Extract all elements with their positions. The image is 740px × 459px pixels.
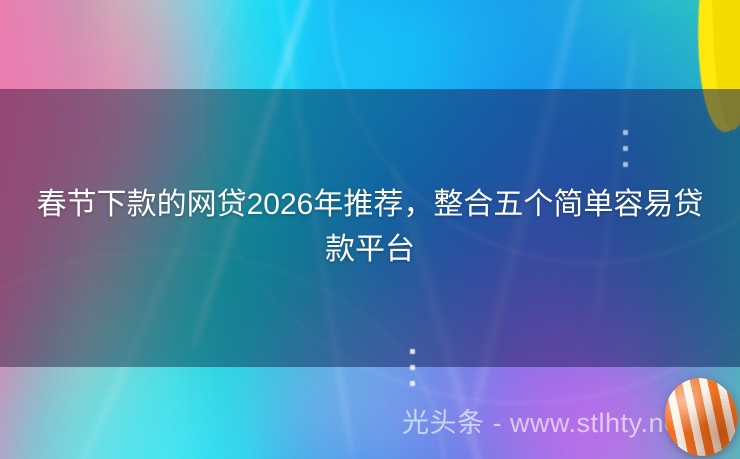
light-streak xyxy=(589,31,641,329)
dot-icon xyxy=(410,349,415,354)
dot-icon xyxy=(623,162,628,167)
blob-light-cyan xyxy=(0,330,340,459)
dot-icon xyxy=(623,146,628,151)
blob-pink xyxy=(0,0,280,350)
dot-icon xyxy=(410,365,415,370)
blob-lavender xyxy=(180,250,540,459)
page-title: 春节下款的网贷2026年推荐，整合五个简单容易贷款平台 xyxy=(32,182,708,272)
vertical-dot-trio-bottom xyxy=(410,349,415,386)
striped-sphere-graphic xyxy=(665,378,737,456)
dot-icon xyxy=(623,130,628,135)
striped-sphere xyxy=(657,370,740,459)
dot-icon xyxy=(410,381,415,386)
site-watermark: 光头条 - www.stlhty.net xyxy=(402,407,688,439)
light-arc xyxy=(0,250,444,459)
vertical-dot-trio-top xyxy=(623,130,628,167)
cover-image-canvas: 春节下款的网贷2026年推荐，整合五个简单容易贷款平台 光头条 - www.st… xyxy=(0,0,740,459)
light-streak xyxy=(185,0,328,352)
